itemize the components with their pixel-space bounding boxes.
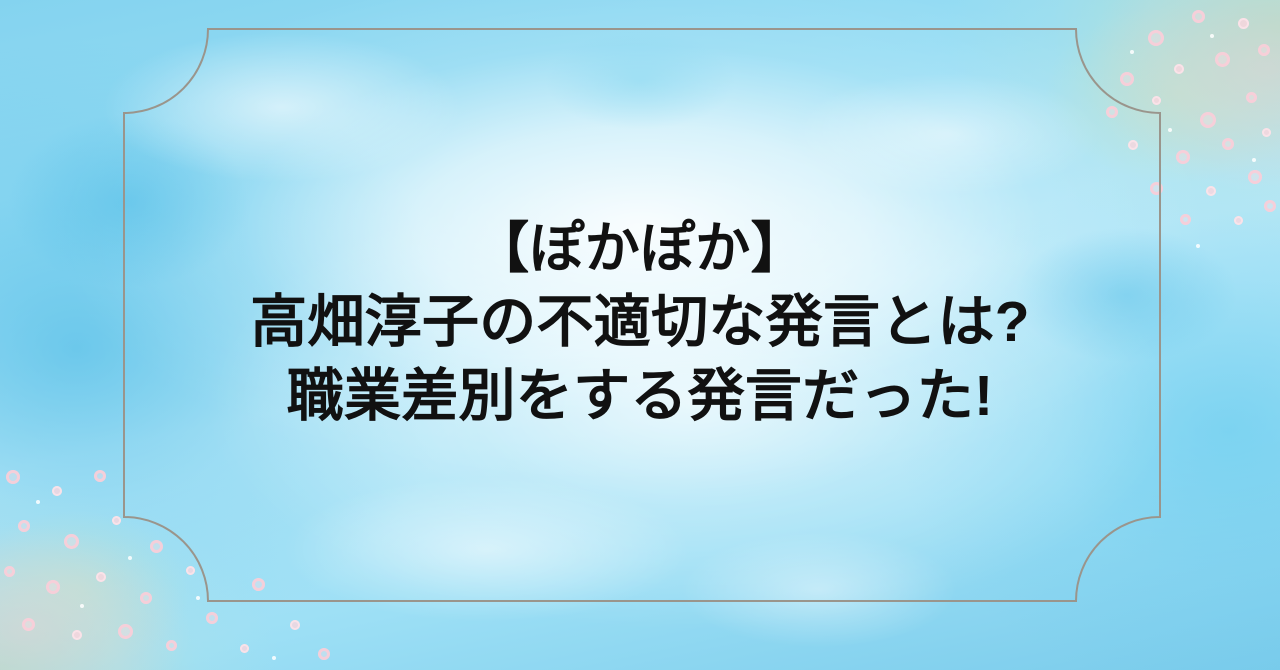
petal-bottom-left [118, 624, 133, 639]
petal-top-right [1264, 200, 1276, 212]
petal-top-right [1206, 186, 1216, 196]
petal-top-right [1148, 30, 1164, 46]
sparkle-dot [36, 500, 40, 504]
petal-top-right [1246, 92, 1257, 103]
petal-bottom-left [206, 612, 218, 624]
petal-bottom-left [186, 566, 195, 575]
petal-bottom-left [18, 520, 30, 532]
petal-bottom-left [94, 470, 106, 482]
petal-bottom-left [112, 516, 121, 525]
petal-top-right [1174, 64, 1184, 74]
petal-top-right [1200, 112, 1216, 128]
title-line-1: 【ぽかぽか】 [0, 213, 1280, 285]
petal-bottom-left [22, 618, 35, 631]
petal-bottom-left [4, 566, 15, 577]
petal-top-right [1128, 140, 1138, 150]
petal-top-right [1248, 170, 1262, 184]
petal-top-right [1176, 150, 1190, 164]
petal-bottom-left [140, 592, 152, 604]
petal-top-right [1215, 52, 1230, 67]
sparkle-dot [1252, 158, 1256, 162]
sparkle-dot [272, 656, 276, 660]
petal-top-right [1238, 18, 1249, 29]
petal-top-right [1120, 72, 1134, 86]
petal-bottom-left [150, 540, 163, 553]
petal-bottom-left [96, 572, 106, 582]
petal-bottom-left [72, 630, 82, 640]
eyecatch-title: 【ぽかぽか】 高畑淳子の不適切な発言とは? 職業差別をする発言だった! [0, 213, 1280, 433]
petal-bottom-left [252, 578, 265, 591]
sparkle-dot [128, 556, 132, 560]
eyecatch-canvas: 【ぽかぽか】 高畑淳子の不適切な発言とは? 職業差別をする発言だった! [0, 0, 1280, 670]
sparkle-dot [1168, 128, 1172, 132]
title-line-2: 高畑淳子の不適切な発言とは? [0, 285, 1280, 359]
petal-top-right [1222, 138, 1234, 150]
petal-top-right [1192, 10, 1205, 23]
petal-bottom-left [290, 620, 300, 630]
petal-bottom-left [52, 486, 62, 496]
petal-top-right [1150, 182, 1163, 195]
sparkle-dot [1210, 34, 1214, 38]
petal-bottom-left [318, 648, 330, 660]
petal-top-right [1152, 96, 1161, 105]
petal-bottom-left [64, 534, 79, 549]
petal-bottom-left [166, 640, 177, 651]
sparkle-dot [80, 604, 84, 608]
petal-top-right [1106, 106, 1118, 118]
sparkle-dot [196, 596, 200, 600]
title-line-3: 職業差別をする発言だった! [0, 359, 1280, 433]
petal-bottom-left [6, 470, 20, 484]
petal-top-right [1258, 44, 1270, 56]
sparkle-dot [1130, 50, 1134, 54]
petal-bottom-left [240, 644, 249, 653]
petal-top-right [1262, 128, 1271, 137]
petal-bottom-left [46, 580, 60, 594]
